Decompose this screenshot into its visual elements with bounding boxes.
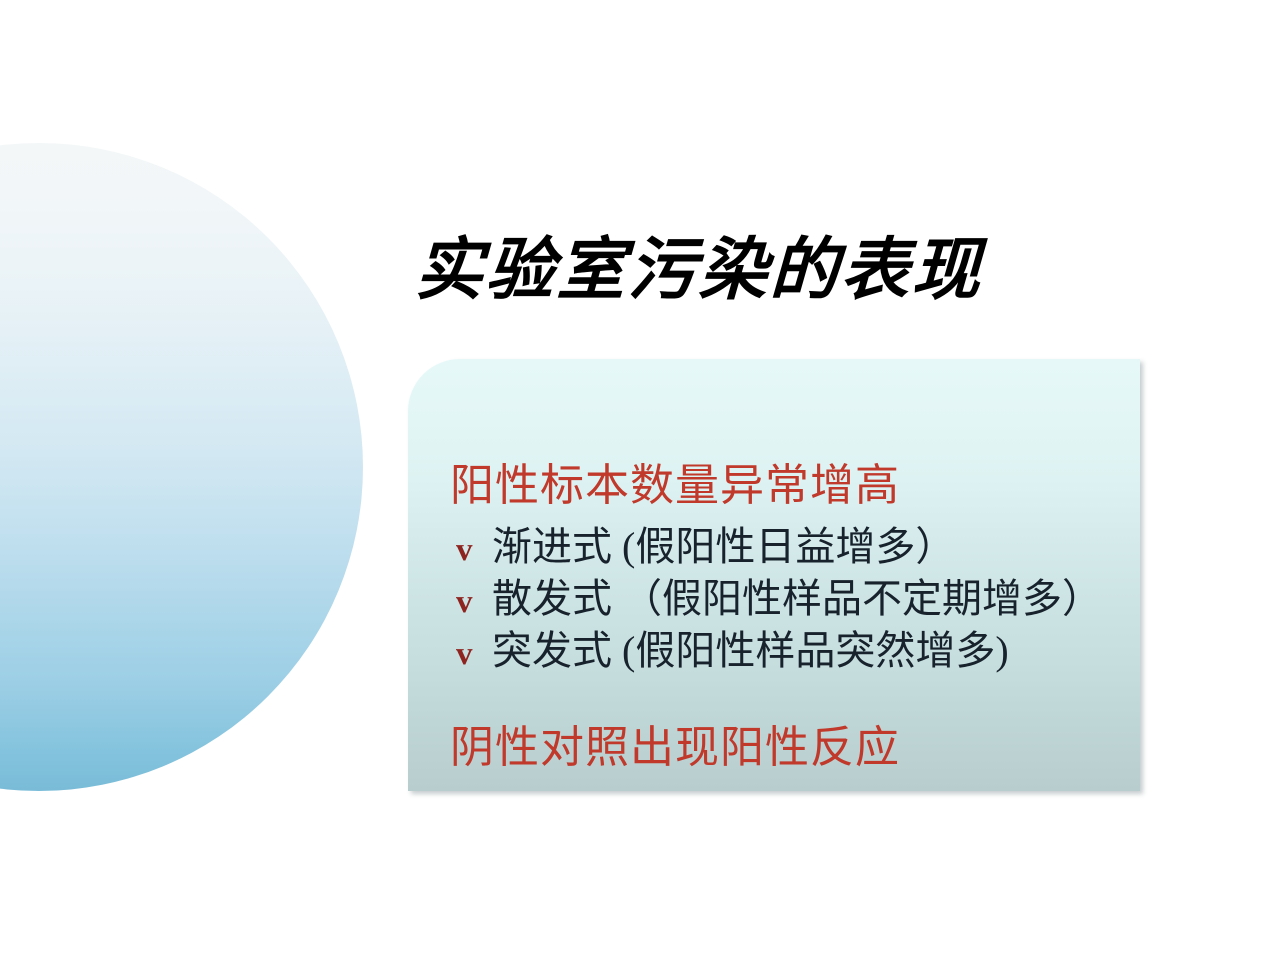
list-item: v 渐进式 (假阳性日益增多） (456, 514, 955, 572)
gradient-circle-decoration (0, 143, 363, 791)
bullet-v-icon: v (456, 636, 492, 673)
panel-heading-primary: 阳性标本数量异常增高 (450, 449, 900, 513)
slide-canvas: 实验室污染的表现 阳性标本数量异常增高 v 渐进式 (假阳性日益增多） v 散发… (0, 0, 1280, 960)
panel-heading-secondary: 阴性对照出现阳性反应 (450, 711, 900, 775)
list-item-label: 渐进式 (假阳性日益增多） (492, 514, 955, 572)
content-panel-body: 阳性标本数量异常增高 v 渐进式 (假阳性日益增多） v 散发式 （假阳性样品不… (408, 359, 1140, 791)
list-item-label: 突发式 (假阳性样品突然增多) (492, 618, 1009, 676)
content-panel: 阳性标本数量异常增高 v 渐进式 (假阳性日益增多） v 散发式 （假阳性样品不… (408, 359, 1140, 791)
list-item: v 散发式 （假阳性样品不定期增多） (456, 566, 1102, 624)
bullet-v-icon: v (456, 584, 492, 621)
bullet-v-icon: v (456, 532, 492, 569)
page-title: 实验室污染的表现 (403, 236, 995, 305)
list-item: v 突发式 (假阳性样品突然增多) (456, 618, 1009, 676)
list-item-label: 散发式 （假阳性样品不定期增多） (492, 566, 1102, 624)
